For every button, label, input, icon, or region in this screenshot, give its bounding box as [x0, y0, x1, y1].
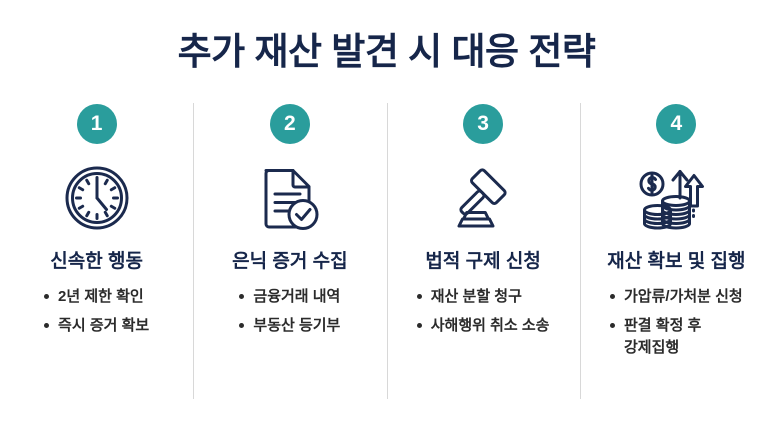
- step-column-2: 2 은닉 증거 수집 금융거래 내역 부동산 등기부: [193, 103, 386, 399]
- bullet-text: 사해행위 취소 소송: [431, 317, 550, 334]
- bullet-item: 2년 제한 확인: [44, 286, 149, 308]
- bullet-text: 가압류/가처분 신청: [624, 288, 743, 305]
- step-number-badge-2: 2: [270, 104, 310, 144]
- bullet-item: 금융거래 내역: [239, 286, 340, 308]
- step-column-3: 3 법적 구제 신청 재산 분할 청구 사해행위 취소 소송: [387, 103, 580, 399]
- document-check-icon: [247, 162, 333, 234]
- money-growth-icon: [633, 162, 719, 234]
- bullet-item: 재산 분할 청구: [417, 286, 550, 308]
- bullet-text: 금융거래 내역: [253, 288, 340, 305]
- bullet-item: 판결 확정 후 강제집행: [610, 315, 743, 359]
- step-bullets-4: 가압류/가처분 신청 판결 확정 후 강제집행: [610, 286, 743, 366]
- step-heading-3: 법적 구제 신청: [425, 250, 540, 274]
- bullet-text: 2년 제한 확인: [58, 288, 144, 305]
- step-heading-4: 재산 확보 및 집행: [607, 250, 745, 274]
- bullet-item: 사해행위 취소 소송: [417, 315, 550, 337]
- step-number-badge-3: 3: [463, 104, 503, 144]
- bullet-text: 즉시 증거 확보: [58, 317, 149, 334]
- page-title: 추가 재산 발견 시 대응 전략: [0, 28, 773, 76]
- step-columns: 1: [0, 103, 773, 399]
- bullet-text: 부동산 등기부: [253, 317, 340, 334]
- infographic-root: 추가 재산 발견 시 대응 전략 1: [0, 0, 773, 431]
- step-heading-2: 은닉 증거 수집: [232, 250, 347, 274]
- step-bullets-1: 2년 제한 확인 즉시 증거 확보: [44, 286, 149, 344]
- step-number-badge-1: 1: [77, 104, 117, 144]
- bullet-text: 재산 분할 청구: [431, 288, 522, 305]
- bullet-item: 가압류/가처분 신청: [610, 286, 743, 308]
- step-bullets-3: 재산 분할 청구 사해행위 취소 소송: [417, 286, 550, 344]
- step-column-4: 4: [580, 103, 773, 399]
- bullet-item: 즉시 증거 확보: [44, 315, 149, 337]
- step-column-1: 1: [0, 103, 193, 399]
- gavel-icon: [440, 162, 526, 234]
- step-heading-1: 신속한 행동: [50, 250, 143, 274]
- step-number-badge-4: 4: [656, 104, 696, 144]
- bullet-item: 부동산 등기부: [239, 315, 340, 337]
- bullet-text-line2: 강제집행: [624, 337, 743, 359]
- clock-icon: [54, 162, 140, 234]
- step-bullets-2: 금융거래 내역 부동산 등기부: [239, 286, 340, 344]
- bullet-text: 판결 확정 후: [624, 317, 701, 334]
